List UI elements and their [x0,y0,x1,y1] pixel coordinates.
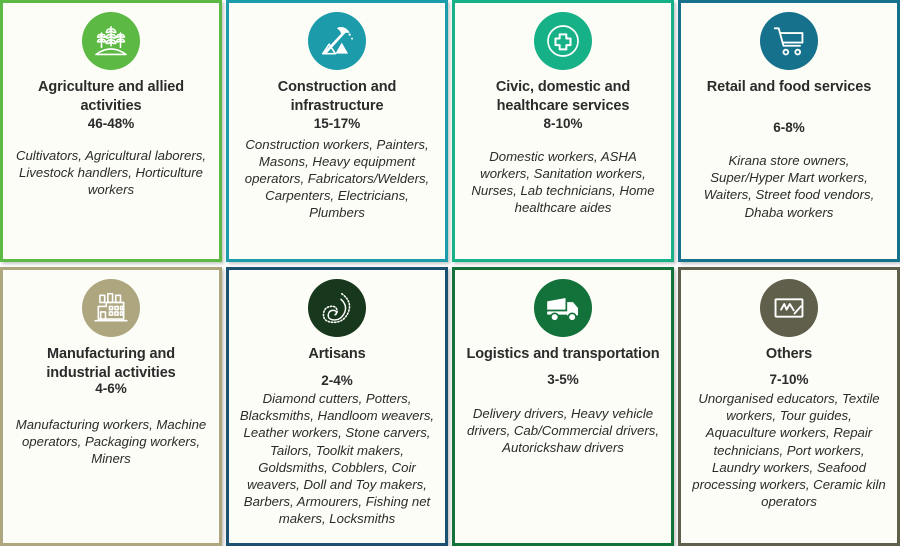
icon-badge-construction [308,12,366,70]
icon-badge-others [760,279,818,337]
medical-cross-icon [543,21,583,61]
pickaxe-icon [318,22,356,60]
icon-badge-manufacturing [82,279,140,337]
card-title: Manufacturing and industrial activities [13,345,209,382]
shopping-cart-icon [770,22,808,60]
card-roles: Kirana store owners, Super/Hyper Mart wo… [691,152,887,221]
card-percentage: 7-10% [769,371,808,389]
card-title: Artisans [308,345,365,364]
card-title: Civic, domestic and healthcare services [465,78,661,115]
card-title: Others [766,345,812,364]
card-percentage: 6-8% [773,119,805,137]
icon-badge-agriculture [82,12,140,70]
card-others[interactable]: Others 7-10% Unorganised educators, Text… [678,267,900,546]
icon-badge-healthcare [534,12,592,70]
card-title: Agriculture and allied activities [13,78,209,115]
card-manufacturing[interactable]: Manufacturing and industrial activities … [0,267,222,546]
card-roles: Delivery drivers, Heavy vehicle drivers,… [465,405,661,456]
icon-badge-artisans [308,279,366,337]
card-retail-food[interactable]: Retail and food services 6-8% Kirana sto… [678,0,900,262]
card-logistics[interactable]: Logistics and transportation 3-5% Delive… [452,267,674,546]
whiteboard-icon [770,289,808,327]
dump-truck-icon [543,288,583,328]
paisley-icon [318,289,356,327]
occupation-category-grid: Agriculture and allied activities 46-48%… [0,0,900,541]
icon-badge-logistics [534,279,592,337]
card-roles: Cultivators, Agricultural laborers, Live… [13,147,209,198]
card-agriculture[interactable]: Agriculture and allied activities 46-48%… [0,0,222,262]
card-percentage: 4-6% [95,380,127,398]
card-roles: Construction workers, Painters, Masons, … [239,136,435,222]
factory-icon [92,289,130,327]
card-roles: Diamond cutters, Potters, Blacksmiths, H… [239,390,435,527]
card-percentage: 2-4% [321,372,353,390]
card-title: Logistics and transportation [467,345,660,364]
card-title: Construction and infrastructure [239,78,435,115]
card-roles: Manufacturing workers, Machine operators… [13,416,209,467]
card-percentage: 46-48% [88,115,135,133]
card-percentage: 3-5% [547,371,579,389]
card-roles: Domestic workers, ASHA workers, Sanitati… [465,148,661,217]
card-construction[interactable]: Construction and infrastructure 15-17% C… [226,0,448,262]
card-percentage: 15-17% [314,115,361,133]
card-roles: Unorganised educators, Textile workers, … [691,390,887,510]
card-civic-healthcare[interactable]: Civic, domestic and healthcare services … [452,0,674,262]
card-percentage: 8-10% [543,115,582,133]
card-artisans[interactable]: Artisans 2-4% Diamond cutters, Potters, … [226,267,448,546]
wheat-icon [92,22,130,60]
card-title: Retail and food services [707,78,871,97]
icon-badge-retail [760,12,818,70]
